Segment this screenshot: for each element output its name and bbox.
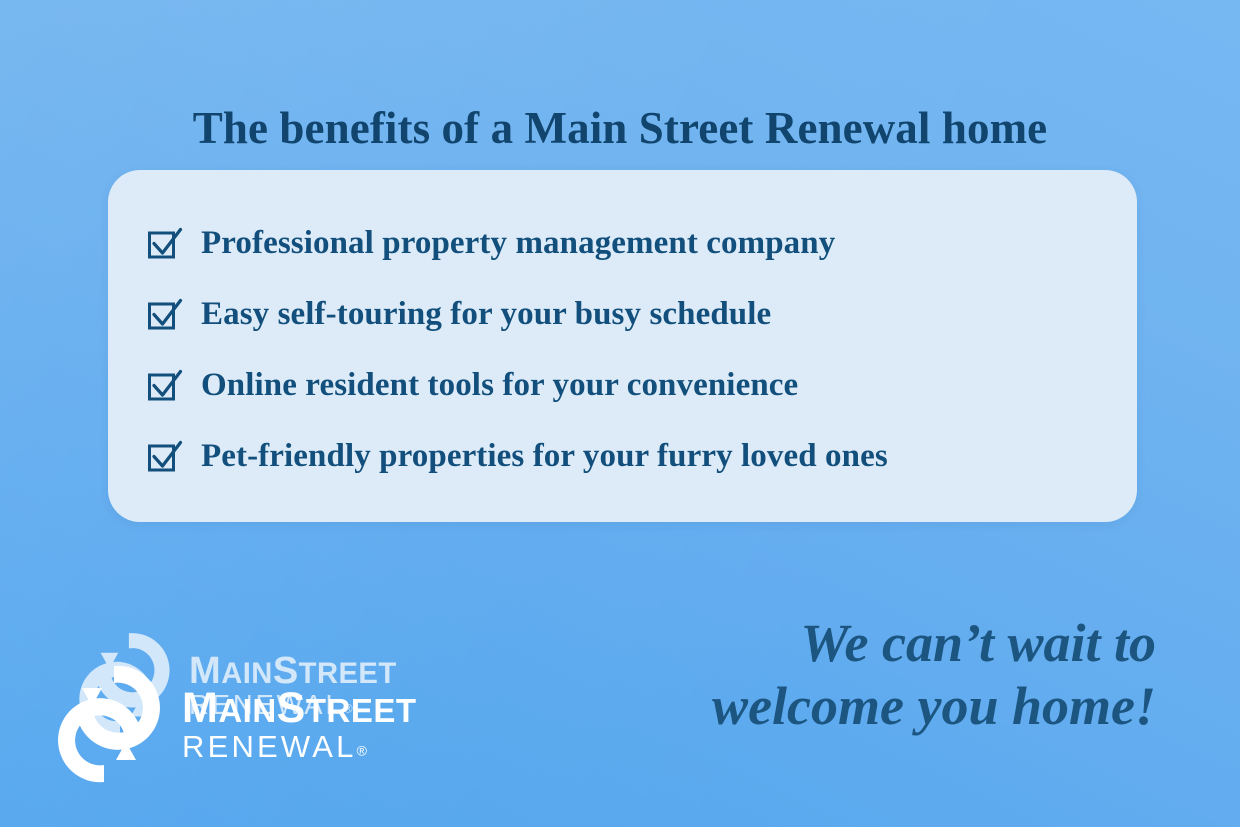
- brand-logo-street-cap: S: [277, 684, 306, 732]
- list-item: Professional property management company: [146, 208, 1111, 279]
- list-item-label: Online resident tools for your convenien…: [201, 369, 798, 402]
- benefits-list: Professional property management company…: [146, 208, 1111, 492]
- brand-logo-main-rest: AIN: [218, 692, 276, 729]
- brand-logo-name: MAINSTREET: [182, 684, 417, 732]
- list-item: Online resident tools for your convenien…: [146, 350, 1111, 421]
- brand-logo-main-copy: MAINSTREET RENEWAL®: [52, 660, 522, 788]
- checked-checkbox-icon: [146, 224, 184, 262]
- list-item-label: Easy self-touring for your busy schedule: [201, 298, 771, 331]
- brand-logo-wordmark: MAINSTREET RENEWAL®: [182, 682, 522, 766]
- page-title: The benefits of a Main Street Renewal ho…: [0, 102, 1240, 154]
- brand-logo: MAINSTREET RENEWAL® MAINSTREET RENEWAL®: [52, 620, 522, 800]
- list-item-label: Pet-friendly properties for your furry l…: [201, 440, 888, 473]
- list-item: Pet-friendly properties for your furry l…: [146, 421, 1111, 492]
- checked-checkbox-icon: [146, 437, 184, 475]
- brand-logo-renewal: RENEWAL: [182, 729, 357, 764]
- brand-logo-street-rest: TREET: [306, 692, 417, 729]
- checked-checkbox-icon: [146, 295, 184, 333]
- registered-trademark-icon: ®: [357, 743, 367, 759]
- brand-logo-main-cap: M: [182, 684, 218, 732]
- tagline-line-1: We can’t wait to: [536, 612, 1156, 675]
- checked-checkbox-icon: [146, 366, 184, 404]
- list-item-label: Professional property management company: [201, 227, 835, 260]
- tagline: We can’t wait to welcome you home!: [536, 612, 1156, 738]
- brand-logo-subname: RENEWAL®: [182, 729, 367, 764]
- list-item: Easy self-touring for your busy schedule: [146, 279, 1111, 350]
- benefits-card: Professional property management company…: [108, 170, 1137, 522]
- promo-poster: The benefits of a Main Street Renewal ho…: [0, 0, 1240, 827]
- interlocking-circles-logo-mark: [52, 660, 170, 788]
- tagline-line-2: welcome you home!: [536, 675, 1156, 738]
